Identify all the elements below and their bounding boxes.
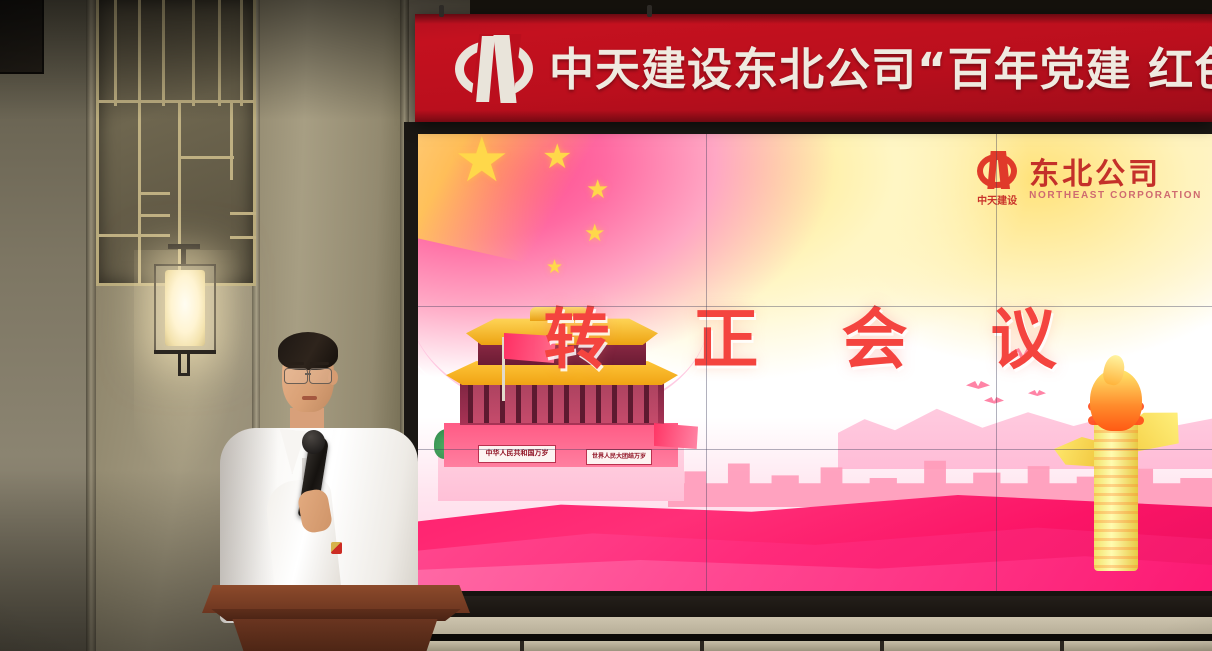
banner-top-shadow bbox=[415, 14, 1212, 24]
lattice-bar bbox=[230, 236, 256, 239]
photo-scene: ★ ★ ★ ★ ★ 中华人民共和国万岁 世界人民大团结万岁 bbox=[0, 0, 1212, 651]
sconce-stem bbox=[178, 354, 190, 376]
sconce-arm bbox=[181, 246, 186, 266]
speaker-person bbox=[212, 330, 432, 620]
event-banner: 中天建设东北公司“百年党建 红色记忆”党日活动 bbox=[415, 14, 1212, 122]
glasses-lens-left bbox=[284, 368, 308, 384]
banner-clip bbox=[439, 5, 444, 17]
stage-shadow-line bbox=[404, 634, 1212, 641]
stage-panel-gap bbox=[880, 641, 884, 651]
banner-bottom-shadow bbox=[415, 110, 1212, 122]
zhongtian-construction-logo-icon bbox=[455, 36, 533, 102]
wooden-lectern-top bbox=[202, 585, 470, 613]
speaker-eyebrow-left bbox=[285, 362, 304, 365]
wall-shadow-top bbox=[0, 0, 470, 120]
lattice-bar bbox=[140, 214, 170, 217]
stage-panel-gap bbox=[1060, 641, 1064, 651]
glasses-lens-right bbox=[309, 368, 332, 384]
stage-base bbox=[404, 641, 1212, 651]
speaker-eyebrow-right bbox=[310, 362, 329, 365]
lattice-bar bbox=[140, 192, 170, 195]
stage-panel-gap bbox=[700, 641, 704, 651]
banner-clip bbox=[647, 5, 652, 17]
wooden-lectern-body bbox=[226, 619, 444, 651]
speaker-mouth bbox=[302, 396, 317, 400]
video-wall-bezel bbox=[404, 122, 1212, 609]
lattice-bar bbox=[98, 234, 170, 237]
lattice-bar bbox=[178, 156, 234, 159]
glasses-bridge bbox=[305, 373, 311, 375]
party-emblem-pin bbox=[331, 542, 342, 554]
lattice-bar bbox=[230, 212, 256, 215]
stage-panel-gap bbox=[520, 641, 524, 651]
wall-sconce-lamp bbox=[154, 262, 216, 372]
sconce-lampshade-glow bbox=[165, 270, 205, 346]
event-banner-text: 中天建设东北公司“百年党建 红色记忆”党日活动 bbox=[549, 30, 1212, 110]
video-wall: ★ ★ ★ ★ ★ 中华人民共和国万岁 世界人民大团结万岁 bbox=[404, 122, 1212, 609]
